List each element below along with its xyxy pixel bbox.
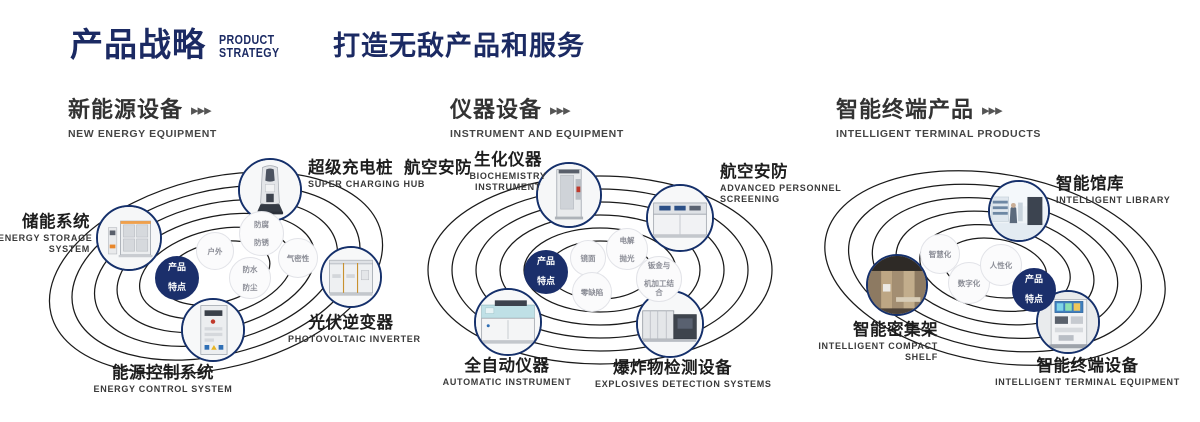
screening-machine-icon: [648, 186, 712, 250]
automatic-analyzer-icon: [476, 290, 540, 354]
node-energy-control[interactable]: [181, 298, 245, 362]
feature-bubble-waterproof-dustproof[interactable]: 防水防尘: [229, 257, 271, 299]
node-label-pv-inverter: 光伏逆变器 PHOTOVOLTAIC INVERTER: [288, 313, 414, 345]
cluster-new-energy: 储能系统 ENERGY STORAGESYSTEM 超级充电桩 SUPER CH…: [20, 150, 420, 400]
cluster-intelligent-terminal: 智能馆库 INTELLIGENT LIBRARY 智能密集架 INTELLIGE…: [790, 150, 1190, 400]
explosives-detector-icon: [638, 292, 702, 356]
feature-bubble-airtightness[interactable]: 气密性: [278, 238, 318, 278]
energy-storage-cabinet-icon: [98, 207, 160, 269]
library-room-icon: [990, 182, 1048, 240]
page-title-en-line2: STRATEGY: [219, 46, 280, 59]
node-explosives-detection[interactable]: [636, 290, 704, 358]
section-title-cn: 智能终端产品▸▸▸: [836, 98, 1041, 123]
node-pv-inverter[interactable]: [320, 246, 382, 308]
pv-inverter-cabinet-icon: [322, 248, 380, 306]
chevron-right-icon: ▸▸▸: [191, 98, 211, 122]
chevron-right-icon: ▸▸▸: [982, 98, 1002, 122]
center-bubble-product-features[interactable]: 产品特点: [155, 256, 199, 300]
node-label-explosives-detection: 爆炸物检测设备 EXPLOSIVES DETECTION SYSTEMS: [595, 358, 750, 390]
node-label-terminal-equipment: 智能终端设备 INTELLIGENT TERMINAL EQUIPMENT: [990, 356, 1185, 388]
feature-bubble-outdoor[interactable]: 户外: [196, 232, 234, 270]
chevron-right-icon: ▸▸▸: [550, 98, 570, 122]
section-title-en: INSTRUMENT AND EQUIPMENT: [450, 128, 624, 140]
node-label-energy-control: 能源控制系统 ENERGY CONTROL SYSTEM: [80, 363, 246, 395]
control-cabinet-icon: [183, 300, 243, 360]
cluster-instrument: 航空安防 生化仪器 BIOCHEMISTRYINSTRUMENT 航空安防 AD…: [400, 150, 800, 400]
page-title-cn: 产品战略: [70, 28, 206, 61]
page-tagline: 打造无敌产品和服务: [333, 33, 585, 60]
node-intelligent-library[interactable]: [988, 180, 1050, 242]
page-header: 产品战略 PRODUCT STRATEGY 打造无敌产品和服务: [0, 0, 1200, 86]
node-label-energy-storage: 储能系统 ENERGY STORAGESYSTEM: [0, 212, 90, 255]
page-title-en: PRODUCT STRATEGY: [219, 33, 280, 59]
feature-bubble-zero-defect[interactable]: 零缺陷: [572, 272, 612, 312]
feature-bubble-mirror-finish[interactable]: 镜面: [570, 240, 606, 276]
node-label-automatic-instrument: 全自动仪器 AUTOMATIC INSTRUMENT: [432, 356, 582, 388]
node-label-compact-shelf: 智能密集架 INTELLIGENT COMPACTSHELF: [778, 320, 938, 363]
center-bubble-product-features[interactable]: 产品特点: [1012, 268, 1056, 312]
feature-bubble-anti-corrosion[interactable]: 防腐防锈: [239, 211, 284, 256]
feature-bubble-sheetmetal-machining[interactable]: 钣金与机加工结合: [636, 256, 682, 302]
section-title-en: NEW ENERGY EQUIPMENT: [68, 128, 217, 140]
node-label-intelligent-library: 智能馆库 INTELLIGENT LIBRARY: [1056, 174, 1170, 206]
section-title-instrument: 仪器设备▸▸▸ INSTRUMENT AND EQUIPMENT: [450, 98, 624, 140]
product-strategy-infographic: 产品战略 PRODUCT STRATEGY 打造无敌产品和服务 新能源设备▸▸▸…: [0, 0, 1200, 422]
center-bubble-product-features[interactable]: 产品特点: [524, 250, 568, 294]
section-title-new-energy: 新能源设备▸▸▸ NEW ENERGY EQUIPMENT: [68, 98, 217, 140]
section-title-en: INTELLIGENT TERMINAL PRODUCTS: [836, 128, 1041, 140]
node-personnel-screening[interactable]: [646, 184, 714, 252]
node-energy-storage[interactable]: [96, 205, 162, 271]
section-title-cn: 仪器设备▸▸▸: [450, 98, 624, 123]
charging-pile-icon: [240, 160, 300, 220]
node-automatic-instrument[interactable]: [474, 288, 542, 356]
section-title-cn: 新能源设备▸▸▸: [68, 98, 217, 123]
section-title-intelligent-terminal: 智能终端产品▸▸▸ INTELLIGENT TERMINAL PRODUCTS: [836, 98, 1041, 140]
node-compact-shelf[interactable]: [866, 254, 928, 316]
node-label-biochemistry-instrument: 生化仪器 BIOCHEMISTRYINSTRUMENT: [448, 150, 568, 193]
compact-shelf-icon: [868, 256, 926, 314]
